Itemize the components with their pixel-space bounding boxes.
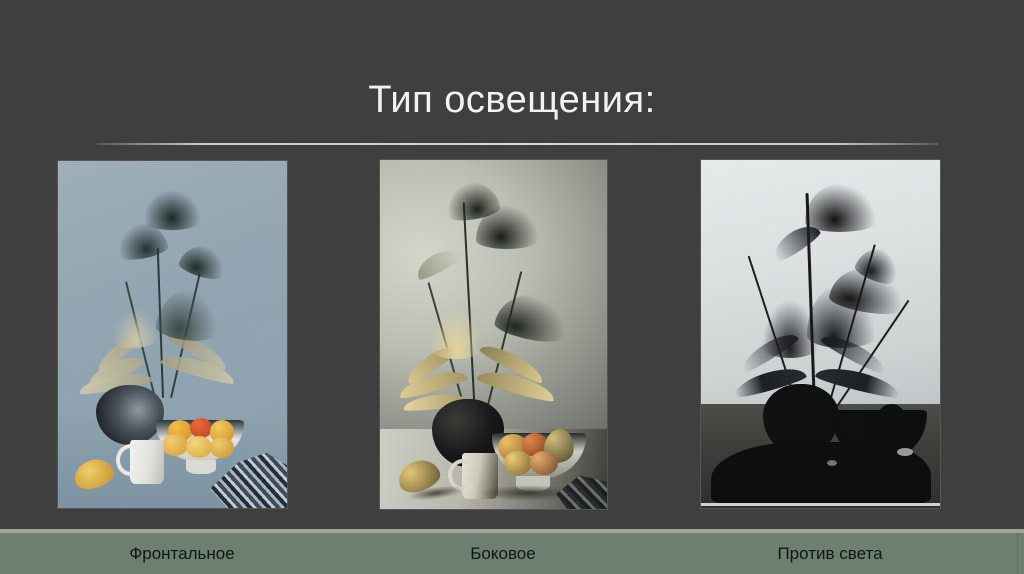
photo-frontal — [58, 161, 287, 508]
table-edge-highlight — [701, 503, 940, 506]
photo-frontal-scene — [58, 161, 287, 508]
mug-handle — [116, 444, 146, 476]
caption-frontal: Фронтальное — [82, 540, 282, 568]
page-title: Тип освещения: — [0, 78, 1024, 122]
fruit-apple — [162, 434, 188, 456]
slide: Тип освещения: — [0, 0, 1024, 574]
fruit-bowl-foot — [186, 460, 216, 474]
photo-backlight-scene — [701, 160, 940, 508]
photo-side — [380, 160, 607, 509]
fruit-apple — [186, 436, 212, 458]
fruit-apple — [504, 451, 532, 475]
photo-side-scene — [380, 160, 607, 509]
title-divider — [97, 143, 938, 145]
highlight-rim — [897, 448, 913, 456]
caption-bar-edge — [1017, 533, 1018, 574]
photo-backlight — [701, 160, 940, 508]
caption-backlight: Против света — [730, 540, 930, 568]
fruit-apple — [530, 451, 558, 475]
caption-bar: Фронтальное Боковое Против света — [0, 529, 1024, 574]
fruit-apple — [190, 418, 212, 438]
caption-side: Боковое — [403, 540, 603, 568]
pear — [873, 404, 909, 444]
fruit-apple — [210, 437, 234, 458]
fruit-apple — [837, 412, 871, 442]
highlight-rim — [827, 460, 837, 466]
